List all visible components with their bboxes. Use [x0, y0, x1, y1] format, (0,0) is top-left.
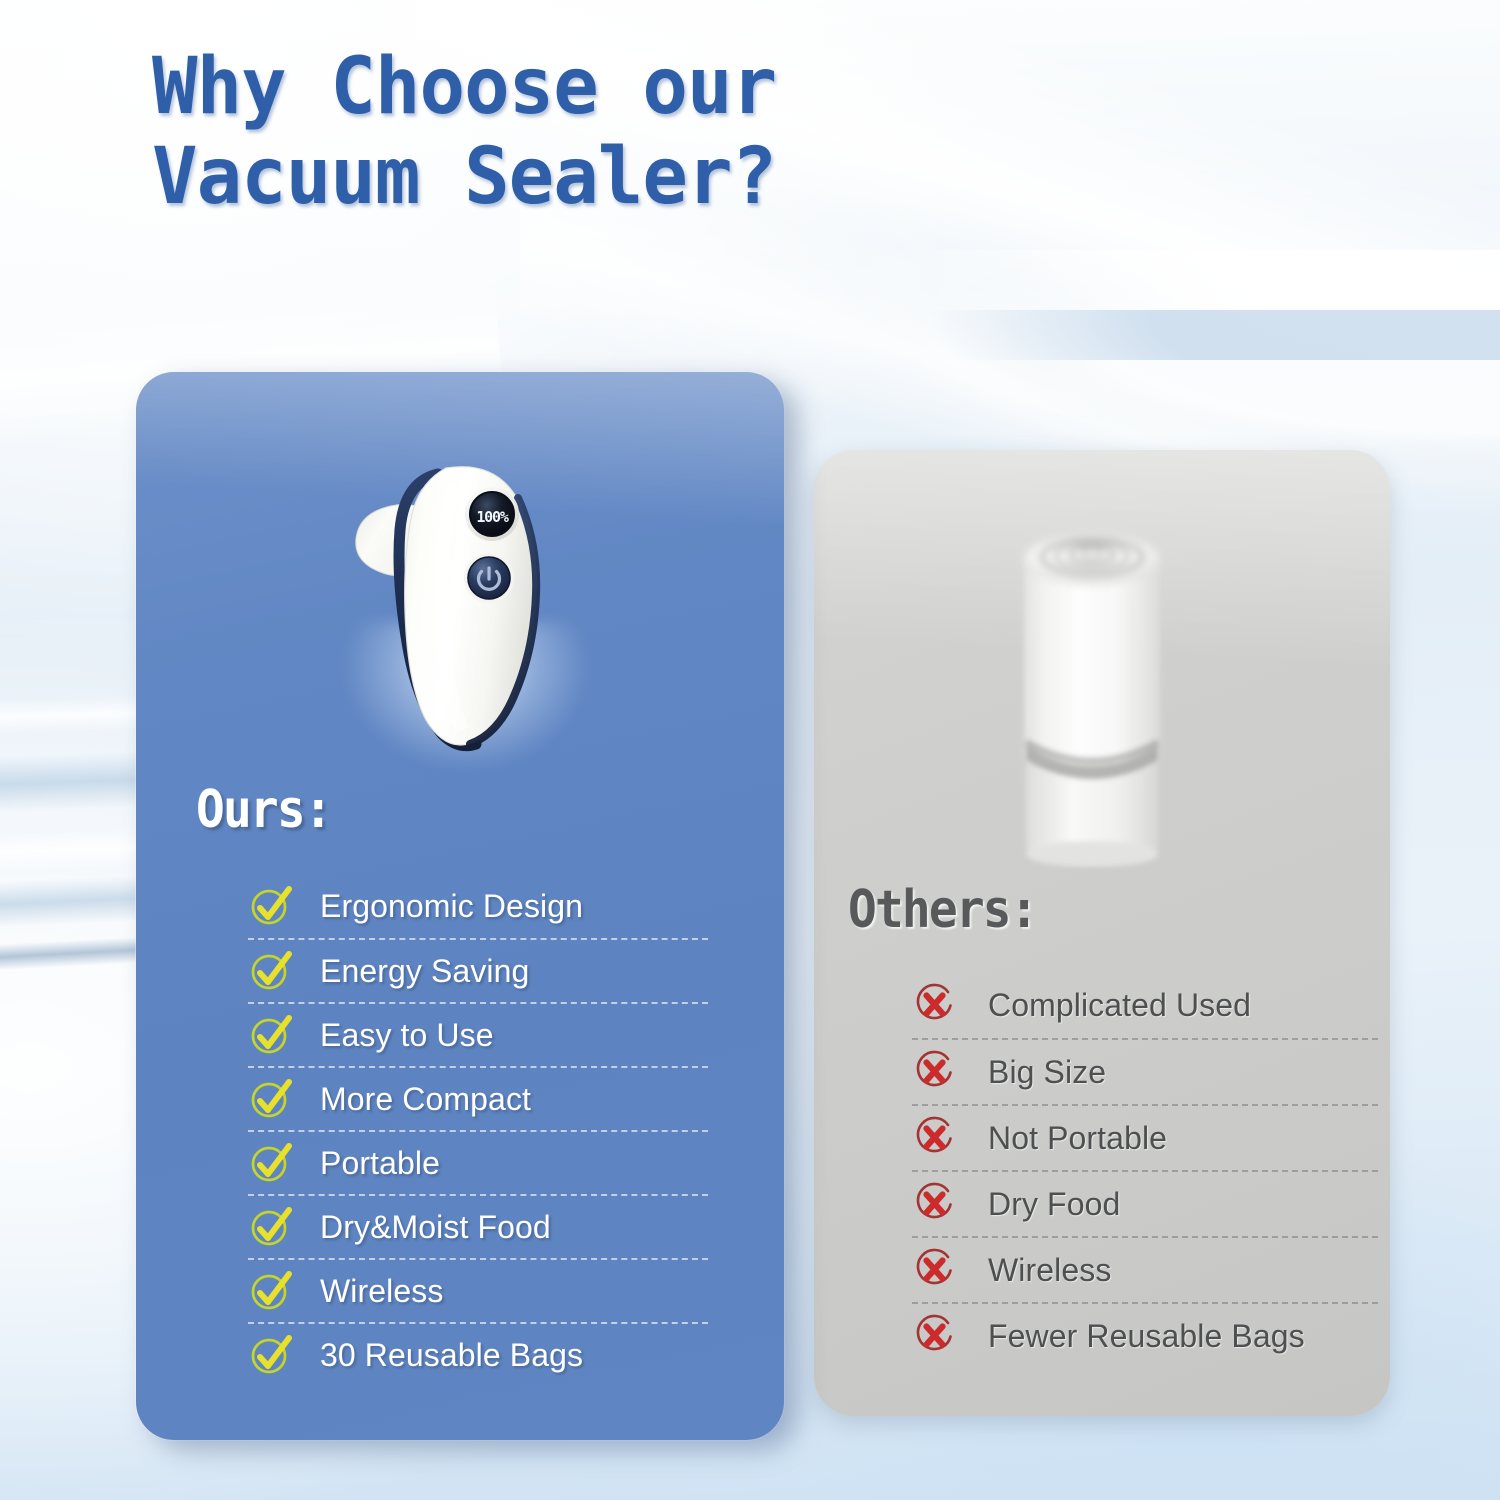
list-item-label: Wireless — [988, 1252, 1111, 1289]
page-title-line-1: Why Choose our — [152, 42, 776, 132]
list-item-label: 30 Reusable Bags — [320, 1337, 583, 1374]
list-item-label: Wireless — [320, 1273, 443, 1310]
list-item: 30 Reusable Bags — [248, 1322, 708, 1386]
list-item-label: Dry Food — [988, 1186, 1120, 1223]
list-item: Wireless — [912, 1236, 1378, 1302]
others-product-image — [982, 498, 1212, 868]
svg-text:100%: 100% — [476, 508, 508, 526]
cross-circle-icon — [912, 1247, 958, 1293]
list-item-label: More Compact — [320, 1081, 531, 1118]
list-item-label: Complicated Used — [988, 987, 1251, 1024]
list-item: Fewer Reusable Bags — [912, 1302, 1378, 1368]
concentric-rings-icon — [1024, 533, 1160, 585]
list-item: Ergonomic Design — [248, 874, 708, 938]
list-item-label: Easy to Use — [320, 1017, 494, 1054]
ours-heading: Ours: — [196, 780, 331, 840]
check-circle-icon — [248, 1140, 294, 1186]
others-comparison-card: Others: Complicated Used — [814, 450, 1390, 1416]
ours-comparison-card: 100% Ours: — [136, 372, 784, 1440]
list-item: Big Size — [912, 1038, 1378, 1104]
cross-circle-icon — [912, 1313, 958, 1359]
check-circle-icon — [248, 948, 294, 994]
list-item: Easy to Use — [248, 1002, 708, 1066]
check-circle-icon — [248, 1332, 294, 1378]
list-item: Wireless — [248, 1258, 708, 1322]
ours-feature-list: Ergonomic Design Energy Saving — [248, 874, 708, 1386]
list-item-label: Not Portable — [988, 1120, 1167, 1157]
battery-display-icon: 100% — [465, 487, 519, 541]
list-item-label: Portable — [320, 1145, 440, 1182]
page-title: Why Choose our Vacuum Sealer? — [152, 42, 1025, 223]
cross-circle-icon — [912, 1115, 958, 1161]
list-item-label: Big Size — [988, 1054, 1106, 1091]
check-circle-icon — [248, 883, 294, 929]
list-item: Dry&Moist Food — [248, 1194, 708, 1258]
cross-circle-icon — [912, 1049, 958, 1095]
list-item-label: Ergonomic Design — [320, 888, 583, 925]
ours-product-image: 100% — [346, 452, 576, 782]
list-item: More Compact — [248, 1066, 708, 1130]
list-item: Energy Saving — [248, 938, 708, 1002]
others-feature-list: Complicated Used Big Size — [912, 972, 1378, 1368]
list-item: Not Portable — [912, 1104, 1378, 1170]
cross-circle-icon — [912, 1181, 958, 1227]
list-item-label: Dry&Moist Food — [320, 1209, 551, 1246]
list-item: Complicated Used — [912, 972, 1378, 1038]
check-circle-icon — [248, 1204, 294, 1250]
power-button-icon — [464, 553, 514, 603]
check-circle-icon — [248, 1076, 294, 1122]
others-heading: Others: — [848, 880, 1037, 940]
list-item: Portable — [248, 1130, 708, 1194]
list-item-label: Energy Saving — [320, 953, 529, 990]
cross-circle-icon — [912, 982, 958, 1028]
list-item-label: Fewer Reusable Bags — [988, 1318, 1305, 1355]
check-circle-icon — [248, 1268, 294, 1314]
check-circle-icon — [248, 1012, 294, 1058]
page-title-line-2: Vacuum Sealer? — [152, 132, 1025, 222]
list-item: Dry Food — [912, 1170, 1378, 1236]
infographic-canvas: Why Choose our Vacuum Sealer? — [0, 0, 1500, 1500]
